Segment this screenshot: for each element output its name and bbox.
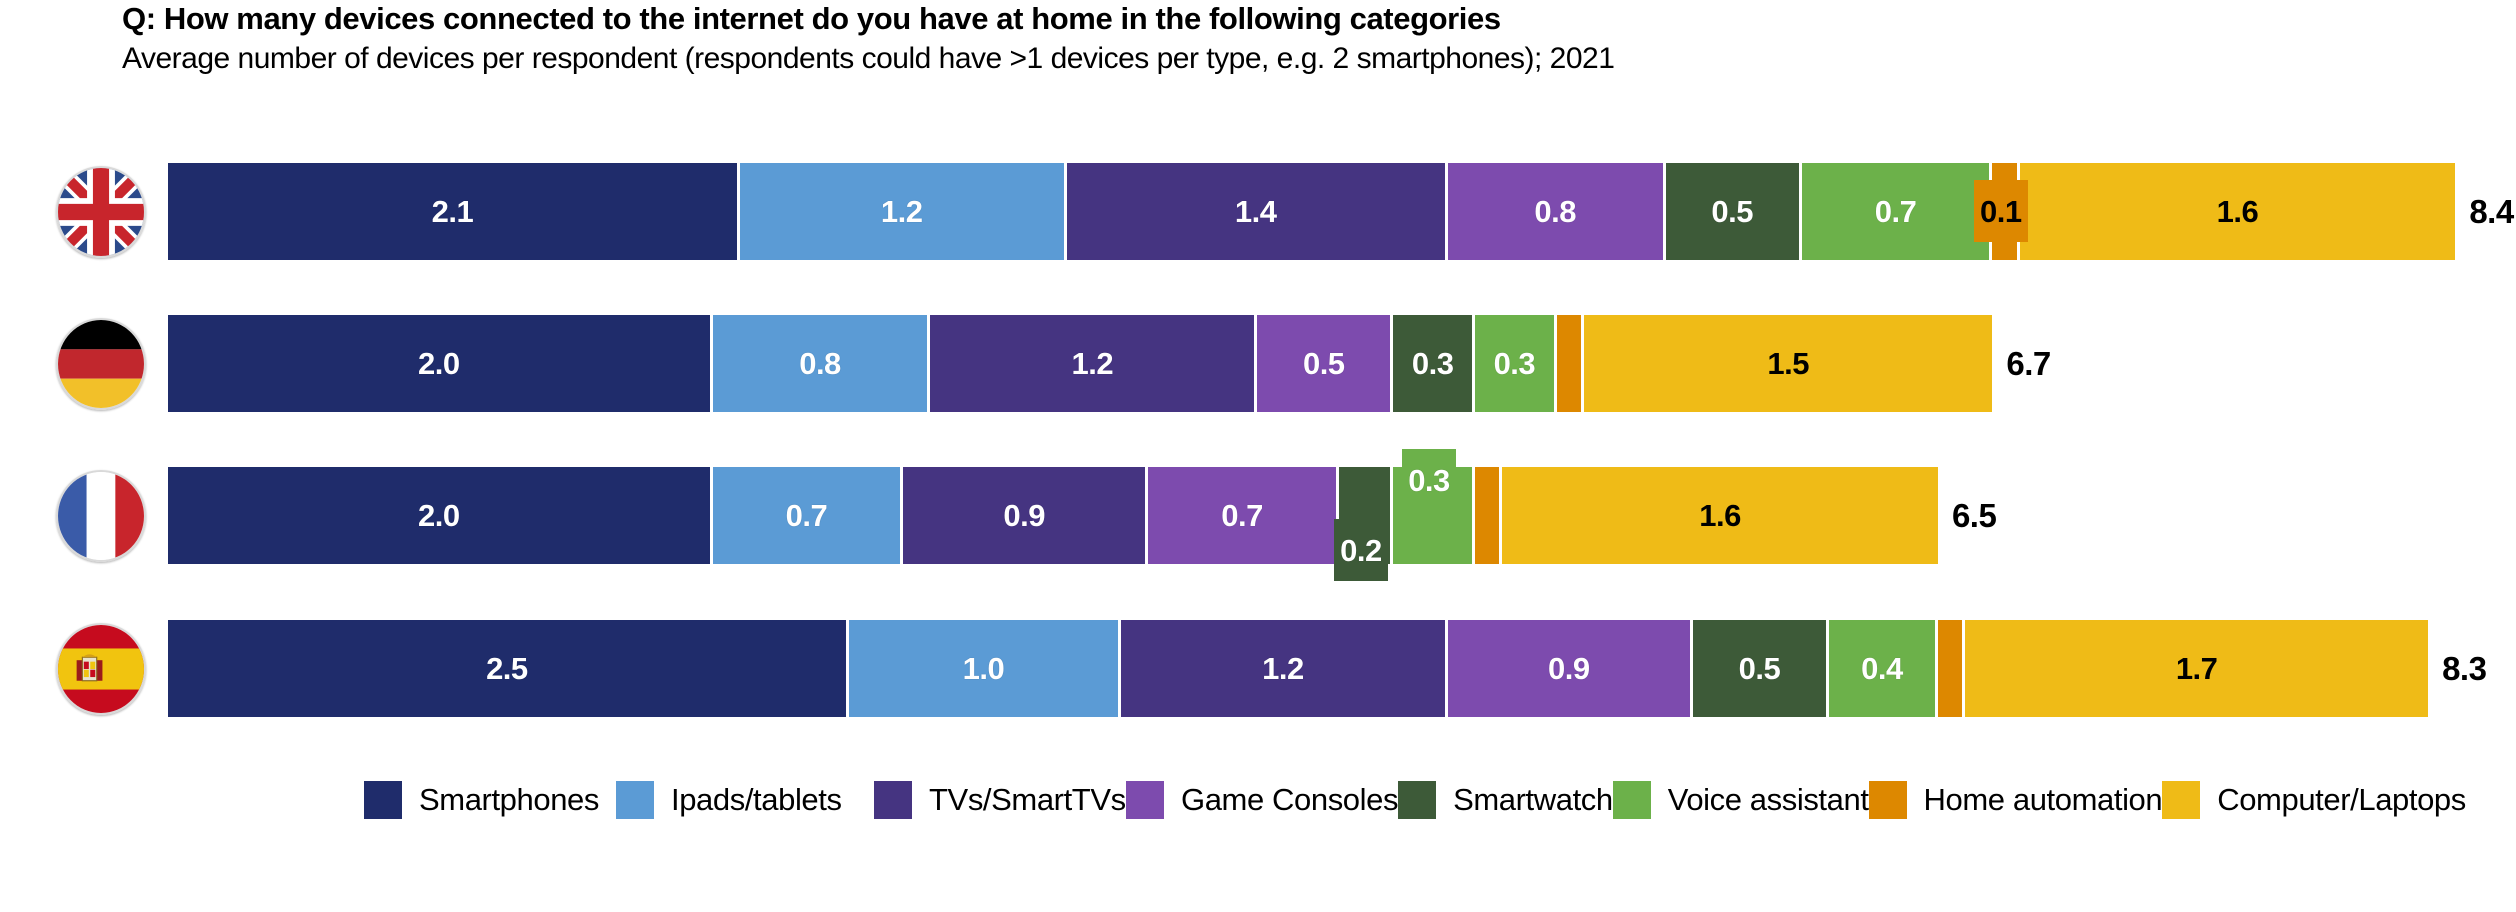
row-total-label: 6.7 [1992,315,2050,412]
bar-segment: 1.2 [1121,620,1448,717]
segment-value-label: 0.9 [1548,653,1590,684]
segment-value-label: 1.2 [1262,653,1304,684]
segment-value-label: 1.5 [1767,348,1809,379]
segment-value-label: 0.1 [1980,196,2022,227]
bar-row: 2.51.01.20.90.50.41.78.3 [0,620,2516,717]
legend-item[interactable]: Smartwatch [1398,778,1613,821]
segment-value-label: 1.6 [1699,500,1741,531]
bar-track: 2.11.21.40.80.50.70.11.6 [168,163,2455,260]
bar-segment: 2.0 [168,467,713,564]
segment-value-callout: 0.1 [1974,180,2028,242]
legend-item[interactable]: Computer/Laptops [2162,778,2466,821]
segment-value-label: 1.2 [881,196,923,227]
segment-value-label: 1.4 [1235,196,1277,227]
bar-segment: 0.7 [1802,163,1993,260]
legend-label: Voice assistant [1668,784,1869,815]
legend-swatch-icon [616,781,654,819]
chart-legend: SmartphonesIpads/tabletsTVs/SmartTVsGame… [364,778,2466,821]
segment-value-label: 0.3 [1494,348,1536,379]
bar-segment: 1.6 [1502,467,1938,564]
legend-label: Smartwatch [1453,784,1613,815]
bar-segment: 0.3 [1475,315,1557,412]
bar-row: 2.00.70.90.70.20.31.66.5 [0,467,2516,564]
legend-swatch-icon [1126,781,1164,819]
bar-segment: 1.0 [849,620,1121,717]
segment-value-label: 0.5 [1739,653,1781,684]
bar-segment: 1.6 [2020,163,2456,260]
segment-value-label: 0.5 [1711,196,1753,227]
bar-segment [1938,620,1965,717]
bar-segment: 2.1 [168,163,740,260]
legend-label: Game Consoles [1181,784,1398,815]
germany-flag-icon [56,318,146,410]
segment-value-label: 0.8 [799,348,841,379]
legend-label: Home automation [1924,784,2163,815]
france-flag-icon [56,470,146,562]
bar-segment: 0.5 [1666,163,1802,260]
bar-segment [1557,315,1584,412]
legend-swatch-icon [1869,781,1907,819]
segment-value-label: 0.3 [1408,465,1450,496]
segment-value-label: 1.0 [963,653,1005,684]
segment-value-label: 0.9 [1003,500,1045,531]
bar-segment: 0.4 [1829,620,1938,717]
row-total-label: 8.4 [2455,163,2513,260]
bar-segment: 2.5 [168,620,849,717]
bar-segment: 1.5 [1584,315,1992,412]
bar-segment: 0.7 [1148,467,1339,564]
bar-track: 2.00.70.90.70.20.31.6 [168,467,1938,564]
row-total-label: 6.5 [1938,467,1996,564]
legend-label: Smartphones [419,784,599,815]
segment-value-callout: 0.3 [1402,449,1456,511]
legend-item[interactable]: Voice assistant [1613,778,1869,821]
segment-value-label: 2.1 [432,196,474,227]
legend-swatch-icon [1398,781,1436,819]
legend-label: Computer/Laptops [2217,784,2466,815]
segment-value-label: 0.7 [1221,500,1263,531]
segment-value-label: 1.2 [1072,348,1114,379]
legend-item[interactable]: Game Consoles [1126,778,1398,821]
segment-value-label: 0.7 [786,500,828,531]
legend-item[interactable]: Smartphones [364,778,616,821]
legend-label: TVs/SmartTVs [929,784,1126,815]
bar-segment: 0.9 [1448,620,1693,717]
segment-value-label: 0.5 [1303,348,1345,379]
legend-swatch-icon [874,781,912,819]
segment-value-label: 0.4 [1861,653,1903,684]
bar-segment: 1.2 [930,315,1257,412]
segment-value-label: 2.0 [418,500,460,531]
stacked-bar-chart: 2.11.21.40.80.50.70.11.68.4 2.00.81.20.5… [0,0,2516,760]
bar-row: 2.00.81.20.50.30.31.56.7 [0,315,2516,412]
bar-segment: 0.7 [713,467,904,564]
segment-value-label: 2.5 [486,653,528,684]
segment-value-label: 0.7 [1875,196,1917,227]
bar-segment: 1.7 [1965,620,2428,717]
bar-segment: 0.5 [1693,620,1829,717]
spain-flag-icon [56,623,146,715]
segment-value-label: 1.7 [2176,653,2218,684]
bar-segment: 0.5 [1257,315,1393,412]
bar-segment: 1.2 [740,163,1067,260]
segment-value-label: 1.6 [2217,196,2259,227]
segment-value-label: 0.3 [1412,348,1454,379]
legend-swatch-icon [364,781,402,819]
row-total-label: 8.3 [2428,620,2486,717]
legend-label: Ipads/tablets [671,784,842,815]
bar-segment: 1.4 [1067,163,1448,260]
segment-value-callout: 0.2 [1334,519,1388,581]
legend-item[interactable]: Home automation [1869,778,2163,821]
bar-segment: 0.8 [1448,163,1666,260]
segment-value-label: 2.0 [418,348,460,379]
legend-item[interactable]: TVs/SmartTVs [874,778,1126,821]
bar-track: 2.51.01.20.90.50.41.7 [168,620,2428,717]
bar-row: 2.11.21.40.80.50.70.11.68.4 [0,163,2516,260]
bar-segment [1475,467,1502,564]
uk-flag-icon [56,166,146,258]
legend-swatch-icon [1613,781,1651,819]
legend-item[interactable]: Ipads/tablets [616,778,874,821]
bar-segment: 0.9 [903,467,1148,564]
bar-segment: 0.8 [713,315,931,412]
bar-segment: 2.0 [168,315,713,412]
segment-value-label: 0.8 [1534,196,1576,227]
bar-segment: 0.3 [1393,315,1475,412]
segment-value-label: 0.2 [1340,535,1382,566]
legend-swatch-icon [2162,781,2200,819]
bar-track: 2.00.81.20.50.30.31.5 [168,315,1992,412]
